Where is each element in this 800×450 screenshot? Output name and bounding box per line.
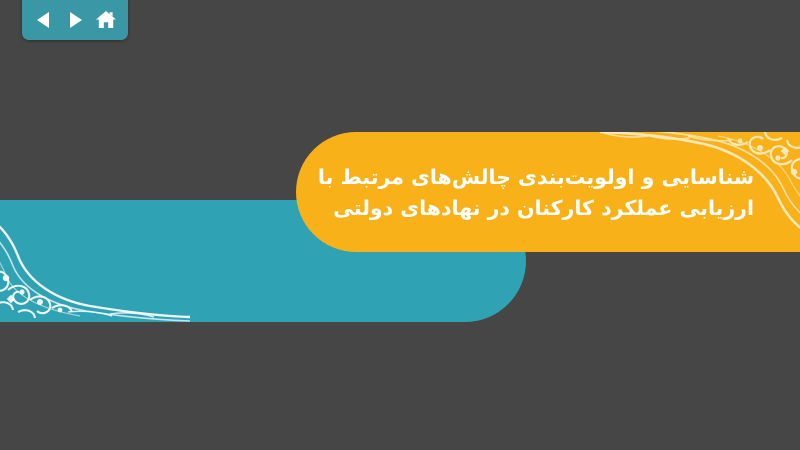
presentation-slide: شناسایی و اولویت‌بندی چالش‌های مرتبط با … [0, 0, 800, 450]
page-title: شناسایی و اولویت‌بندی چالش‌های مرتبط با … [300, 145, 770, 241]
previous-slide-button[interactable] [31, 7, 57, 33]
home-icon [95, 9, 117, 31]
left-triangle-icon [34, 10, 54, 30]
slide-navigation-bar[interactable] [22, 0, 128, 40]
home-slide-button[interactable] [93, 7, 119, 33]
title-line-1: شناسایی و اولویت‌بندی چالش‌های مرتبط با [300, 162, 770, 193]
title-line-2: ارزیابی عملکرد کارکنان در نهادهای دولتی [300, 193, 770, 224]
teal-arabesque-ornament-icon [0, 200, 190, 322]
next-slide-button[interactable] [62, 7, 88, 33]
right-triangle-icon [65, 10, 85, 30]
